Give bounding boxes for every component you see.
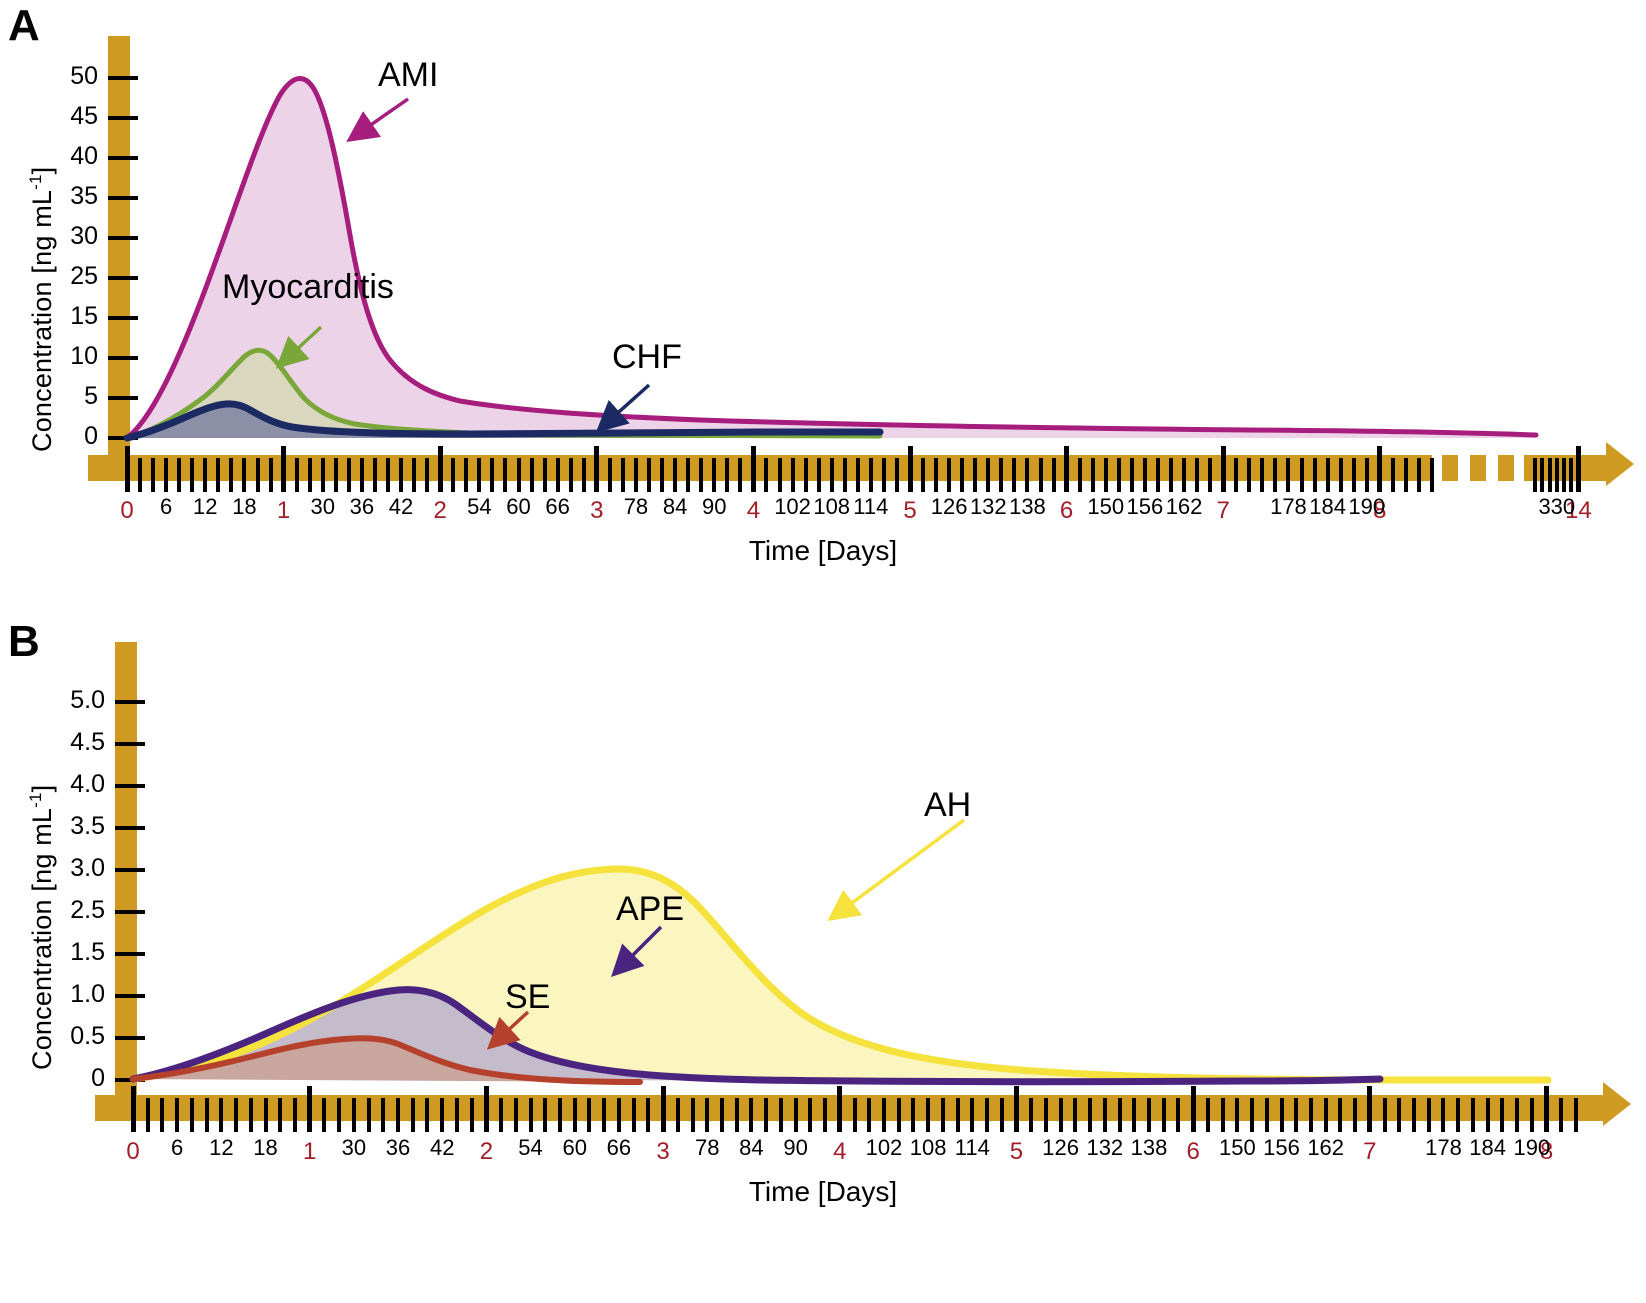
x-minor-tick — [499, 1098, 503, 1132]
x-minor-tick — [1309, 1098, 1313, 1132]
x-minor-tick — [190, 458, 194, 492]
x-month-tick — [131, 1086, 136, 1132]
x-minor-tick — [425, 1098, 429, 1132]
x-minor-tick — [1265, 1098, 1269, 1132]
x-minor-tick — [1000, 1098, 1004, 1132]
x-minor-tick — [399, 458, 403, 492]
x-month-tick — [1576, 446, 1581, 492]
x-minor-tick — [1208, 458, 1212, 492]
x-minor-tick — [1339, 458, 1343, 492]
x-minor-tick — [691, 1098, 695, 1132]
x-month-tick — [125, 446, 130, 492]
x-minor-tick — [676, 1098, 680, 1132]
x-minor-tick — [1397, 1098, 1401, 1132]
x-minor-tick — [337, 1098, 341, 1132]
panel-a-plot — [0, 0, 1646, 470]
x-minor-tick — [1471, 1098, 1475, 1132]
x-day-label: 162 — [1300, 1135, 1352, 1161]
x-minor-tick — [146, 1098, 150, 1132]
x-minor-tick — [1103, 1098, 1107, 1132]
x-month-label: 0 — [111, 1138, 155, 1166]
x-minor-tick — [895, 458, 899, 492]
x-minor-tick — [1404, 458, 1408, 492]
x-minor-tick — [1326, 458, 1330, 492]
x-minor-tick — [808, 1098, 812, 1132]
x-minor-tick — [960, 458, 964, 492]
panel-a-x-axis-title: Time [Days] — [0, 535, 1646, 567]
x-minor-tick — [269, 458, 273, 492]
x-minor-tick — [853, 1098, 857, 1132]
x-day-label: 66 — [593, 1135, 645, 1161]
x-minor-tick — [543, 1098, 547, 1132]
x-day-label: 114 — [845, 494, 897, 520]
x-minor-tick — [673, 458, 677, 492]
x-minor-tick — [1130, 458, 1134, 492]
x-minor-tick — [804, 458, 808, 492]
x-minor-tick — [1500, 1098, 1504, 1132]
x-minor-tick — [1059, 1098, 1063, 1132]
x-month-tick — [661, 1086, 666, 1132]
panel-b: B Concentration [ng mL-1] 0 0.5 1.0 1.5 … — [0, 620, 1646, 1303]
curve-label-myocarditis: Myocarditis — [222, 270, 394, 304]
x-minor-tick — [1206, 1098, 1210, 1132]
x-minor-tick — [634, 458, 638, 492]
x-minor-tick — [705, 1098, 709, 1132]
x-minor-tick — [720, 1098, 724, 1132]
x-minor-tick — [823, 1098, 827, 1132]
x-minor-tick — [1091, 458, 1095, 492]
x-minor-tick — [1555, 458, 1559, 492]
panel-a: A Concentration [ng mL-1] 0 5 10 15 25 3… — [0, 0, 1646, 600]
x-minor-tick — [617, 1098, 621, 1132]
x-minor-tick — [386, 458, 390, 492]
x-month-tick — [1544, 1086, 1549, 1132]
x-minor-tick — [177, 458, 181, 492]
x-month-label: 5 — [994, 1138, 1038, 1166]
x-month-label: 7 — [1348, 1138, 1392, 1166]
x-minor-tick — [530, 458, 534, 492]
x-minor-tick — [973, 458, 977, 492]
x-minor-tick — [1412, 1098, 1416, 1132]
x-minor-tick — [164, 458, 168, 492]
x-minor-tick — [360, 458, 364, 492]
x-month-tick — [1064, 446, 1069, 492]
panel-b-x-axis-title: Time [Days] — [0, 1176, 1646, 1208]
x-minor-tick — [464, 458, 468, 492]
x-minor-tick — [921, 458, 925, 492]
x-day-label: 138 — [1123, 1135, 1175, 1161]
x-minor-tick — [556, 458, 560, 492]
x-minor-tick — [1234, 458, 1238, 492]
x-minor-tick — [986, 458, 990, 492]
curve-ami-fill — [127, 79, 1536, 438]
x-minor-tick — [817, 458, 821, 492]
panel-a-x-axis-break-1 — [1442, 455, 1458, 481]
x-minor-tick — [411, 1098, 415, 1132]
x-day-label: 330 — [1531, 494, 1583, 520]
x-minor-tick — [216, 458, 220, 492]
x-month-tick — [908, 446, 913, 492]
x-minor-tick — [334, 458, 338, 492]
x-minor-tick — [686, 458, 690, 492]
x-month-tick — [1221, 446, 1226, 492]
x-minor-tick — [749, 1098, 753, 1132]
x-minor-tick — [1260, 458, 1264, 492]
x-minor-tick — [295, 458, 299, 492]
x-minor-tick — [543, 458, 547, 492]
x-minor-tick — [1294, 1098, 1298, 1132]
x-minor-tick — [256, 458, 260, 492]
x-minor-tick — [373, 458, 377, 492]
x-day-label: 18 — [218, 494, 270, 520]
x-minor-tick — [646, 1098, 650, 1132]
x-month-label: 3 — [641, 1138, 685, 1166]
x-day-label: 190 — [1341, 494, 1393, 520]
x-minor-tick — [778, 458, 782, 492]
x-minor-tick — [602, 1098, 606, 1132]
x-minor-tick — [1195, 458, 1199, 492]
x-minor-tick — [219, 1098, 223, 1132]
x-minor-tick — [1162, 1098, 1166, 1132]
x-day-label: 90 — [770, 1135, 822, 1161]
x-minor-tick — [321, 458, 325, 492]
x-day-label: 42 — [375, 494, 427, 520]
x-month-label: 2 — [464, 1138, 508, 1166]
x-minor-tick — [293, 1098, 297, 1132]
x-minor-tick — [477, 458, 481, 492]
x-minor-tick — [1417, 458, 1421, 492]
x-minor-tick — [764, 1098, 768, 1132]
x-minor-tick — [660, 458, 664, 492]
x-day-label: 114 — [946, 1135, 998, 1161]
x-minor-tick — [1052, 458, 1056, 492]
x-day-label: 162 — [1158, 494, 1210, 520]
x-minor-tick — [1338, 1098, 1342, 1132]
x-minor-tick — [882, 458, 886, 492]
x-minor-tick — [941, 1098, 945, 1132]
panel-a-x-axis-arrowhead — [1606, 442, 1634, 486]
x-minor-tick — [242, 458, 246, 492]
x-minor-tick — [947, 458, 951, 492]
x-minor-tick — [381, 1098, 385, 1132]
x-month-tick — [594, 446, 599, 492]
x-minor-tick — [647, 458, 651, 492]
x-minor-tick — [1132, 1098, 1136, 1132]
x-minor-tick — [1250, 1098, 1254, 1132]
x-minor-tick — [517, 458, 521, 492]
x-minor-tick — [1540, 458, 1544, 492]
x-month-tick — [307, 1086, 312, 1132]
x-minor-tick — [1176, 1098, 1180, 1132]
x-month-tick — [837, 1086, 842, 1132]
x-minor-tick — [558, 1098, 562, 1132]
x-month-tick — [1191, 1086, 1196, 1132]
x-minor-tick — [843, 458, 847, 492]
x-minor-tick — [1286, 458, 1290, 492]
x-minor-tick — [264, 1098, 268, 1132]
x-minor-tick — [470, 1098, 474, 1132]
x-month-tick — [438, 446, 443, 492]
x-day-label: 190 — [1506, 1135, 1558, 1161]
x-minor-tick — [352, 1098, 356, 1132]
x-minor-tick — [1147, 1098, 1151, 1132]
x-minor-tick — [985, 1098, 989, 1132]
x-minor-tick — [1383, 1098, 1387, 1132]
x-minor-tick — [1486, 1098, 1490, 1132]
x-minor-tick — [1169, 458, 1173, 492]
x-minor-tick — [573, 1098, 577, 1132]
x-minor-tick — [1280, 1098, 1284, 1132]
x-minor-tick — [160, 1098, 164, 1132]
x-day-label: 18 — [240, 1135, 292, 1161]
x-minor-tick — [1235, 1098, 1239, 1132]
x-month-tick — [484, 1086, 489, 1132]
x-month-label: 6 — [1171, 1138, 1215, 1166]
x-minor-tick — [1441, 1098, 1445, 1132]
x-minor-tick — [1029, 1098, 1033, 1132]
x-minor-tick — [455, 1098, 459, 1132]
x-minor-tick — [830, 458, 834, 492]
x-minor-tick — [1574, 1098, 1578, 1132]
x-minor-tick — [1515, 1098, 1519, 1132]
x-minor-tick — [234, 1098, 238, 1132]
x-minor-tick — [856, 458, 860, 492]
x-minor-tick — [699, 458, 703, 492]
x-minor-tick — [587, 1098, 591, 1132]
x-minor-tick — [1533, 458, 1537, 492]
x-day-label: 90 — [688, 494, 740, 520]
x-minor-tick — [869, 458, 873, 492]
x-minor-tick — [1025, 458, 1029, 492]
x-minor-tick — [1039, 458, 1043, 492]
curve-label-ami: AMI — [378, 58, 438, 92]
x-minor-tick — [1117, 458, 1121, 492]
x-minor-tick — [738, 458, 742, 492]
panel-a-x-axis-break-2 — [1470, 455, 1486, 481]
x-minor-tick — [725, 458, 729, 492]
x-minor-tick — [1073, 1098, 1077, 1132]
x-minor-tick — [151, 458, 155, 492]
x-minor-tick — [1430, 458, 1434, 492]
x-minor-tick — [1313, 458, 1317, 492]
x-day-label: 42 — [416, 1135, 468, 1161]
x-minor-tick — [882, 1098, 886, 1132]
curve-label-se: SE — [505, 980, 550, 1014]
x-minor-tick — [347, 458, 351, 492]
x-month-tick — [1367, 1086, 1372, 1132]
x-minor-tick — [1559, 1098, 1563, 1132]
x-minor-tick — [621, 458, 625, 492]
x-minor-tick — [1143, 458, 1147, 492]
x-day-label: 66 — [532, 494, 584, 520]
x-minor-tick — [934, 458, 938, 492]
x-minor-tick — [569, 458, 573, 492]
x-minor-tick — [1548, 458, 1552, 492]
x-minor-tick — [1569, 458, 1573, 492]
x-minor-tick — [278, 1098, 282, 1132]
x-minor-tick — [1247, 458, 1251, 492]
x-minor-tick — [1044, 1098, 1048, 1132]
x-minor-tick — [779, 1098, 783, 1132]
x-minor-tick — [897, 1098, 901, 1132]
x-minor-tick — [1530, 1098, 1534, 1132]
x-minor-tick — [1562, 458, 1566, 492]
x-minor-tick — [791, 458, 795, 492]
x-minor-tick — [911, 1098, 915, 1132]
curve-label-ah: AH — [924, 788, 971, 822]
x-minor-tick — [1104, 458, 1108, 492]
x-minor-tick — [205, 1098, 209, 1132]
x-minor-tick — [1221, 1098, 1225, 1132]
arrow-ami — [352, 99, 408, 138]
x-month-label: 1 — [288, 1138, 332, 1166]
x-minor-tick — [175, 1098, 179, 1132]
x-minor-tick — [440, 1098, 444, 1132]
x-minor-tick — [1352, 458, 1356, 492]
x-minor-tick — [1156, 458, 1160, 492]
x-minor-tick — [367, 1098, 371, 1132]
x-minor-tick — [999, 458, 1003, 492]
x-minor-tick — [735, 1098, 739, 1132]
x-day-label: 138 — [1001, 494, 1053, 520]
x-minor-tick — [412, 458, 416, 492]
x-month-tick — [1377, 446, 1382, 492]
x-minor-tick — [582, 458, 586, 492]
x-minor-tick — [425, 458, 429, 492]
x-minor-tick — [490, 458, 494, 492]
curve-label-ape: APE — [616, 892, 684, 926]
arrow-ah — [833, 820, 964, 917]
x-minor-tick — [794, 1098, 798, 1132]
x-minor-tick — [1324, 1098, 1328, 1132]
panel-b-x-axis-arrowhead — [1603, 1082, 1631, 1126]
x-month-tick — [1014, 1086, 1019, 1132]
x-minor-tick — [1427, 1098, 1431, 1132]
x-month-label: 4 — [818, 1138, 862, 1166]
x-minor-tick — [396, 1098, 400, 1132]
x-minor-tick — [514, 1098, 518, 1132]
x-minor-tick — [529, 1098, 533, 1132]
x-minor-tick — [229, 458, 233, 492]
curve-label-chf: CHF — [612, 340, 682, 374]
panel-b-plot — [0, 620, 1646, 1120]
x-minor-tick — [867, 1098, 871, 1132]
x-minor-tick — [956, 1098, 960, 1132]
x-minor-tick — [764, 458, 768, 492]
panel-a-x-axis-break-3 — [1498, 455, 1514, 481]
panel-a-x-axis-bar — [88, 455, 1432, 481]
x-minor-tick — [970, 1098, 974, 1132]
x-minor-tick — [503, 458, 507, 492]
x-minor-tick — [1391, 458, 1395, 492]
x-minor-tick — [1365, 458, 1369, 492]
x-minor-tick — [308, 458, 312, 492]
x-minor-tick — [1182, 458, 1186, 492]
x-minor-tick — [203, 458, 207, 492]
x-minor-tick — [190, 1098, 194, 1132]
x-minor-tick — [138, 458, 142, 492]
x-minor-tick — [1088, 1098, 1092, 1132]
x-minor-tick — [608, 458, 612, 492]
x-minor-tick — [1273, 458, 1277, 492]
x-minor-tick — [451, 458, 455, 492]
x-month-tick — [281, 446, 286, 492]
x-minor-tick — [1456, 1098, 1460, 1132]
x-minor-tick — [1078, 458, 1082, 492]
x-minor-tick — [926, 1098, 930, 1132]
x-minor-tick — [1118, 1098, 1122, 1132]
x-minor-tick — [322, 1098, 326, 1132]
x-minor-tick — [712, 458, 716, 492]
x-minor-tick — [632, 1098, 636, 1132]
x-minor-tick — [1012, 458, 1016, 492]
x-month-tick — [751, 446, 756, 492]
x-minor-tick — [1300, 458, 1304, 492]
x-minor-tick — [249, 1098, 253, 1132]
x-minor-tick — [1353, 1098, 1357, 1132]
